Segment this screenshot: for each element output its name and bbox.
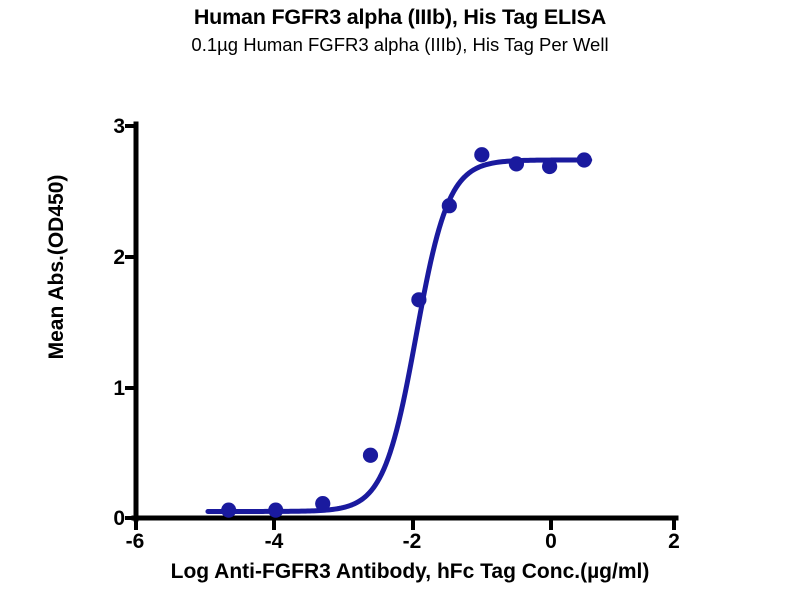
data-point bbox=[474, 147, 489, 162]
data-point bbox=[542, 159, 557, 174]
data-point bbox=[268, 503, 283, 518]
data-point bbox=[221, 503, 236, 518]
plot-area bbox=[0, 0, 800, 600]
elisa-chart-figure: Human FGFR3 alpha (IIIb), His Tag ELISA … bbox=[0, 0, 800, 600]
dose-response-curve bbox=[208, 160, 590, 511]
data-point-group bbox=[221, 147, 592, 518]
data-point bbox=[315, 496, 330, 511]
data-point bbox=[577, 152, 592, 167]
data-point bbox=[363, 448, 378, 463]
data-point bbox=[411, 292, 426, 307]
data-point bbox=[509, 156, 524, 171]
data-point bbox=[442, 198, 457, 213]
